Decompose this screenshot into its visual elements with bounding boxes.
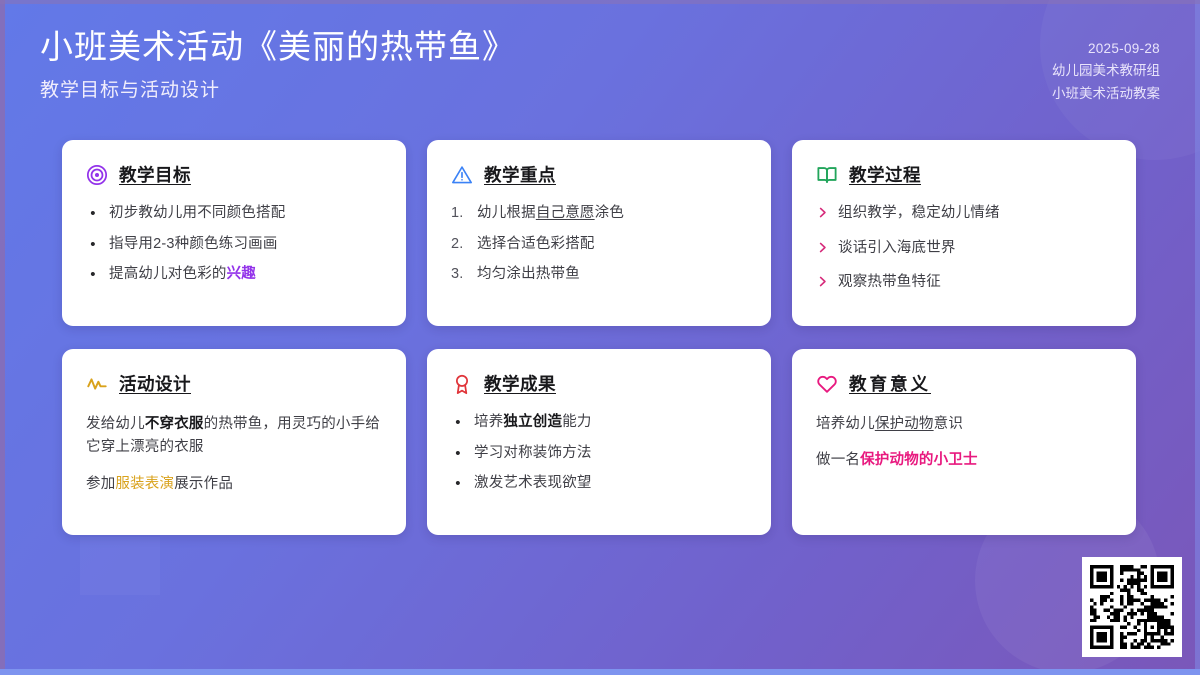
list-item: 3. 均匀涂出热带鱼 <box>451 265 747 285</box>
text-run-plain: 组织教学，稳定幼儿情绪 <box>838 205 1000 221</box>
meta-date: 2025-09-28 <box>1052 38 1160 60</box>
card-teaching-outcomes: 教学成果 • 培养独立创造能力 • 学习对称装饰方法 • 激发艺术表现欲望 <box>427 349 771 535</box>
open-book-icon <box>816 164 838 186</box>
page-edge-left <box>0 0 5 675</box>
card-title: 教学过程 <box>849 162 921 187</box>
card-header: 教学重点 <box>451 162 747 187</box>
card-title: 教学重点 <box>484 162 556 187</box>
bullet-list: • 初步教幼儿用不同颜色搭配 • 指导用2-3种颜色练习画画 • 提高幼儿对色彩… <box>86 204 382 285</box>
numbered-list: 1. 幼儿根据自己意愿涂色 2. 选择合适色彩搭配 3. 均匀涂出热带鱼 <box>451 204 747 285</box>
text-run-plain: 幼儿根据 <box>477 205 536 221</box>
paragraph: 发给幼儿不穿衣服的热带鱼，用灵巧的小手给它穿上漂亮的衣服 <box>86 413 382 460</box>
page-subtitle: 教学目标与活动设计 <box>40 75 516 102</box>
award-medal-icon <box>451 373 473 395</box>
card-header: 教学成果 <box>451 371 747 396</box>
list-item: 谈话引入海底世界 <box>816 239 1112 259</box>
list-item: • 指导用2-3种颜色练习画画 <box>86 235 382 255</box>
card-educational-meaning: 教育意义 培养幼儿保护动物意识做一名保护动物的小卫士 <box>792 349 1136 535</box>
card-teaching-focus: 教学重点 1. 幼儿根据自己意愿涂色 2. 选择合适色彩搭配 3. 均匀涂出热带… <box>427 140 771 326</box>
list-item-text: 培养独立创造能力 <box>474 413 592 433</box>
heart-icon <box>816 373 838 395</box>
text-run-plain: 参加 <box>86 476 115 492</box>
bullet-marker: • <box>86 204 100 224</box>
text-run-amber: 服装表演 <box>115 476 174 492</box>
text-run-plain: 培养 <box>474 414 503 430</box>
list-item-text: 提高幼儿对色彩的兴趣 <box>109 265 256 285</box>
paragraph: 培养幼儿保护动物意识 <box>816 413 1112 436</box>
bullet-marker: • <box>451 444 465 464</box>
text-run-bold: 不穿衣服 <box>145 416 204 432</box>
list-item: 组织教学，稳定幼儿情绪 <box>816 204 1112 224</box>
list-item: 观察热带鱼特征 <box>816 273 1112 293</box>
list-item-text: 谈话引入海底世界 <box>838 239 956 259</box>
list-item-text: 初步教幼儿用不同颜色搭配 <box>109 204 285 224</box>
card-header: 教学过程 <box>816 162 1112 187</box>
card-header: 活动设计 <box>86 371 382 396</box>
text-run-plain: 提高幼儿对色彩的 <box>109 266 227 282</box>
list-item: 2. 选择合适色彩搭配 <box>451 235 747 255</box>
chevron-right-icon <box>816 275 829 288</box>
card-header: 教学目标 <box>86 162 382 187</box>
text-run-underline: 自己意愿 <box>536 205 595 221</box>
text-run-plain: 做一名 <box>816 452 860 468</box>
number-marker: 1. <box>451 204 468 224</box>
text-run-plain: 意识 <box>934 416 963 432</box>
bullet-marker: • <box>451 413 465 433</box>
text-run-plain: 指导用2-3种颜色练习画画 <box>109 236 278 252</box>
header-meta: 2025-09-28 幼儿园美术教研组 小班美术活动教案 <box>1052 26 1160 105</box>
qr-code[interactable] <box>1082 557 1182 657</box>
bullet-marker: • <box>451 474 465 494</box>
card-header: 教育意义 <box>816 371 1112 396</box>
page-edge-bottom <box>0 669 1200 675</box>
chevron-list: 组织教学，稳定幼儿情绪 谈话引入海底世界 观察热带鱼特征 <box>816 204 1112 293</box>
chevron-right-icon <box>816 206 829 219</box>
text-run-purple: 兴趣 <box>227 266 256 282</box>
meta-document-type: 小班美术活动教案 <box>1052 83 1160 105</box>
text-run-plain: 初步教幼儿用不同颜色搭配 <box>109 205 285 221</box>
paragraph: 参加服装表演展示作品 <box>86 473 382 496</box>
card-title: 教学目标 <box>119 162 191 187</box>
text-run-plain: 均匀涂出热带鱼 <box>477 266 580 282</box>
card-title: 教学成果 <box>484 371 556 396</box>
list-item-text: 观察热带鱼特征 <box>838 273 941 293</box>
text-run-plain: 谈话引入海底世界 <box>838 240 956 256</box>
bullet-marker: • <box>86 265 100 285</box>
card-teaching-goals: 教学目标 • 初步教幼儿用不同颜色搭配 • 指导用2-3种颜色练习画画 • 提高… <box>62 140 406 326</box>
number-marker: 2. <box>451 235 468 255</box>
page-title: 小班美术活动《美丽的热带鱼》 <box>40 28 516 66</box>
card-title: 教育意义 <box>849 371 931 396</box>
list-item-text: 组织教学，稳定幼儿情绪 <box>838 204 1000 224</box>
decorative-rect-bottom-left <box>80 537 160 595</box>
slide-header: 小班美术活动《美丽的热带鱼》 教学目标与活动设计 2025-09-28 幼儿园美… <box>40 26 1160 105</box>
text-run-plain: 发给幼儿 <box>86 416 145 432</box>
bullet-list: • 培养独立创造能力 • 学习对称装饰方法 • 激发艺术表现欲望 <box>451 413 747 494</box>
card-activity-design: 活动设计 发给幼儿不穿衣服的热带鱼，用灵巧的小手给它穿上漂亮的衣服参加服装表演展… <box>62 349 406 535</box>
list-item: • 学习对称装饰方法 <box>451 444 747 464</box>
list-item-text: 选择合适色彩搭配 <box>477 235 595 255</box>
title-block: 小班美术活动《美丽的热带鱼》 教学目标与活动设计 <box>40 26 516 102</box>
meta-organization: 幼儿园美术教研组 <box>1052 60 1160 82</box>
card-title: 活动设计 <box>119 371 191 396</box>
text-run-plain: 能力 <box>562 414 591 430</box>
text-run-bold: 独立创造 <box>503 414 562 430</box>
number-marker: 3. <box>451 265 468 285</box>
target-icon <box>86 164 108 186</box>
paragraph: 做一名保护动物的小卫士 <box>816 449 1112 472</box>
page-edge-right <box>1195 0 1200 675</box>
card-teaching-process: 教学过程 组织教学，稳定幼儿情绪 谈话引入海底世界 观察热带鱼特征 <box>792 140 1136 326</box>
bullet-marker: • <box>86 235 100 255</box>
list-item-text: 均匀涂出热带鱼 <box>477 265 580 285</box>
list-item-text: 指导用2-3种颜色练习画画 <box>109 235 278 255</box>
text-run-plain: 激发艺术表现欲望 <box>474 475 592 491</box>
list-item: • 培养独立创造能力 <box>451 413 747 433</box>
list-item: • 初步教幼儿用不同颜色搭配 <box>86 204 382 224</box>
list-item-text: 幼儿根据自己意愿涂色 <box>477 204 624 224</box>
slide-canvas: 小班美术活动《美丽的热带鱼》 教学目标与活动设计 2025-09-28 幼儿园美… <box>0 0 1200 675</box>
list-item: • 提高幼儿对色彩的兴趣 <box>86 265 382 285</box>
activity-pulse-icon <box>86 373 108 395</box>
chevron-right-icon <box>816 241 829 254</box>
card-grid: 教学目标 • 初步教幼儿用不同颜色搭配 • 指导用2-3种颜色练习画画 • 提高… <box>62 140 1142 535</box>
text-run-plain: 观察热带鱼特征 <box>838 274 941 290</box>
warning-triangle-icon <box>451 164 473 186</box>
list-item-text: 学习对称装饰方法 <box>474 444 592 464</box>
page-edge-top <box>0 0 1200 4</box>
text-run-pink: 保护动物的小卫士 <box>860 452 978 468</box>
list-item: • 激发艺术表现欲望 <box>451 474 747 494</box>
text-run-plain: 涂色 <box>595 205 624 221</box>
text-run-plain: 培养幼儿 <box>816 416 875 432</box>
list-item: 1. 幼儿根据自己意愿涂色 <box>451 204 747 224</box>
text-run-plain: 选择合适色彩搭配 <box>477 236 595 252</box>
text-run-underline: 保护动物 <box>875 416 934 432</box>
text-run-plain: 学习对称装饰方法 <box>474 445 592 461</box>
list-item-text: 激发艺术表现欲望 <box>474 474 592 494</box>
text-run-plain: 展示作品 <box>174 476 233 492</box>
